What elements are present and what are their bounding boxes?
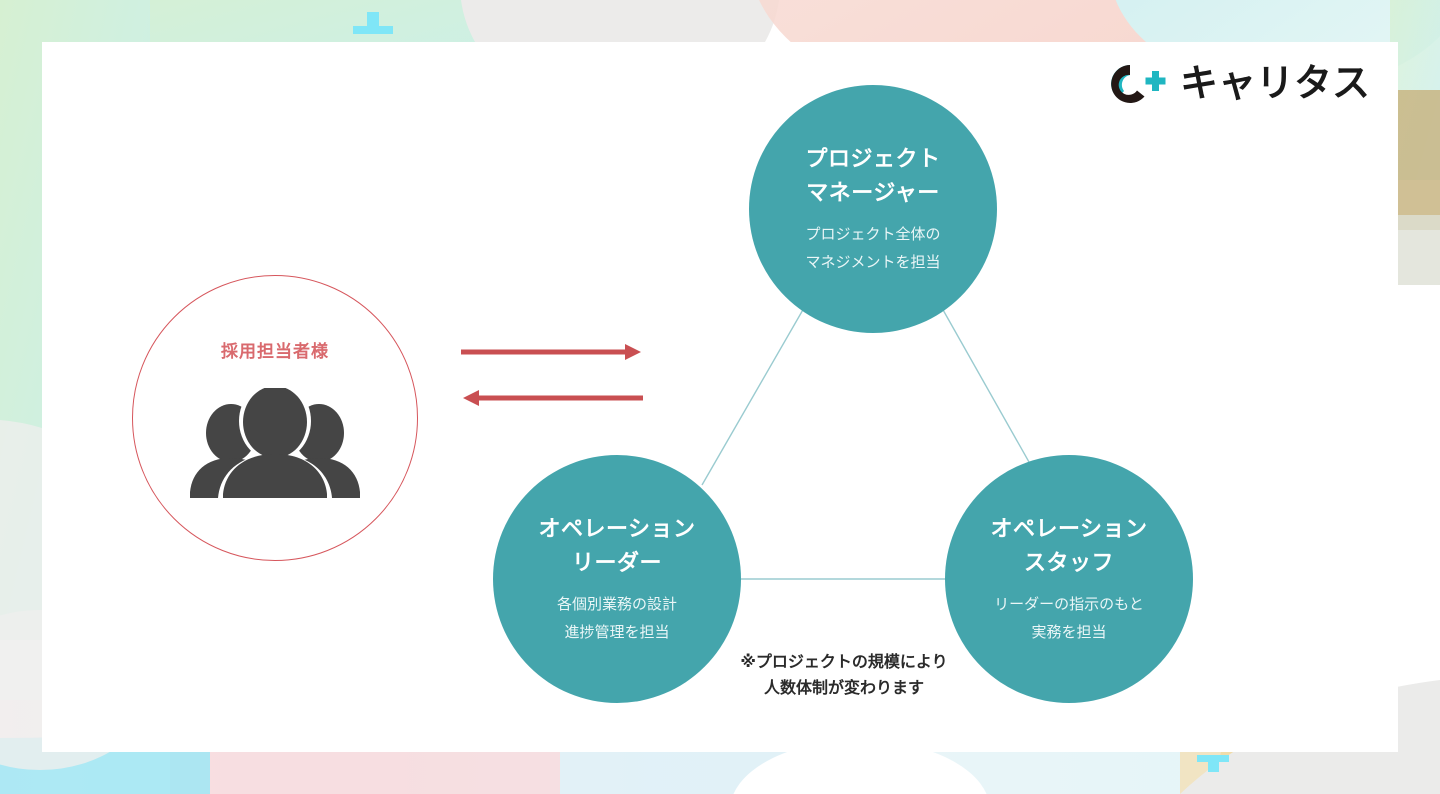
client-node-recruiter[interactable]: 採用担当者様 — [132, 275, 418, 561]
role-desc-line-1: プロジェクト全体の — [805, 222, 940, 248]
diagram-footnote: ※プロジェクトの規模により 人数体制が変わります — [684, 650, 1004, 703]
arrow-right-icon — [461, 344, 641, 360]
org-relationship-diagram: プロジェクト マネージャー プロジェクト全体の マネジメントを担当 オペレーショ… — [42, 42, 1398, 752]
connector-pm-to-os — [938, 301, 1042, 485]
footnote-line-1: ※プロジェクトの規模により — [684, 650, 1004, 676]
bidirectional-arrows — [457, 337, 647, 417]
role-title-line-2: スタッフ — [1024, 546, 1114, 580]
role-desc-line-2: マネジメントを担当 — [805, 250, 940, 276]
arrow-left-icon — [463, 390, 643, 406]
footnote-line-2: 人数体制が変わります — [684, 676, 1004, 702]
role-title-line-1: オペレーション — [990, 512, 1147, 546]
role-desc-line-1: 各個別業務の設計 — [557, 592, 677, 618]
role-desc-line-1: リーダーの指示のもと — [994, 592, 1144, 618]
role-title-line-1: プロジェクト — [805, 142, 940, 176]
role-desc-line-2: 進捗管理を担当 — [564, 620, 669, 646]
role-desc-line-2: 実務を担当 — [1031, 620, 1106, 646]
slide-card: キャリタス プロジェクト マネージャー プロジェクト全体の マネジメントを担当 … — [42, 42, 1398, 752]
role-node-project-manager[interactable]: プロジェクト マネージャー プロジェクト全体の マネジメントを担当 — [749, 85, 997, 333]
client-label: 採用担当者様 — [221, 337, 329, 362]
role-title-line-2: リーダー — [572, 546, 662, 580]
role-title-line-2: マネージャー — [806, 176, 939, 210]
connector-pm-to-ol — [702, 301, 808, 485]
role-title-line-1: オペレーション — [538, 512, 695, 546]
people-group-icon — [184, 388, 366, 500]
